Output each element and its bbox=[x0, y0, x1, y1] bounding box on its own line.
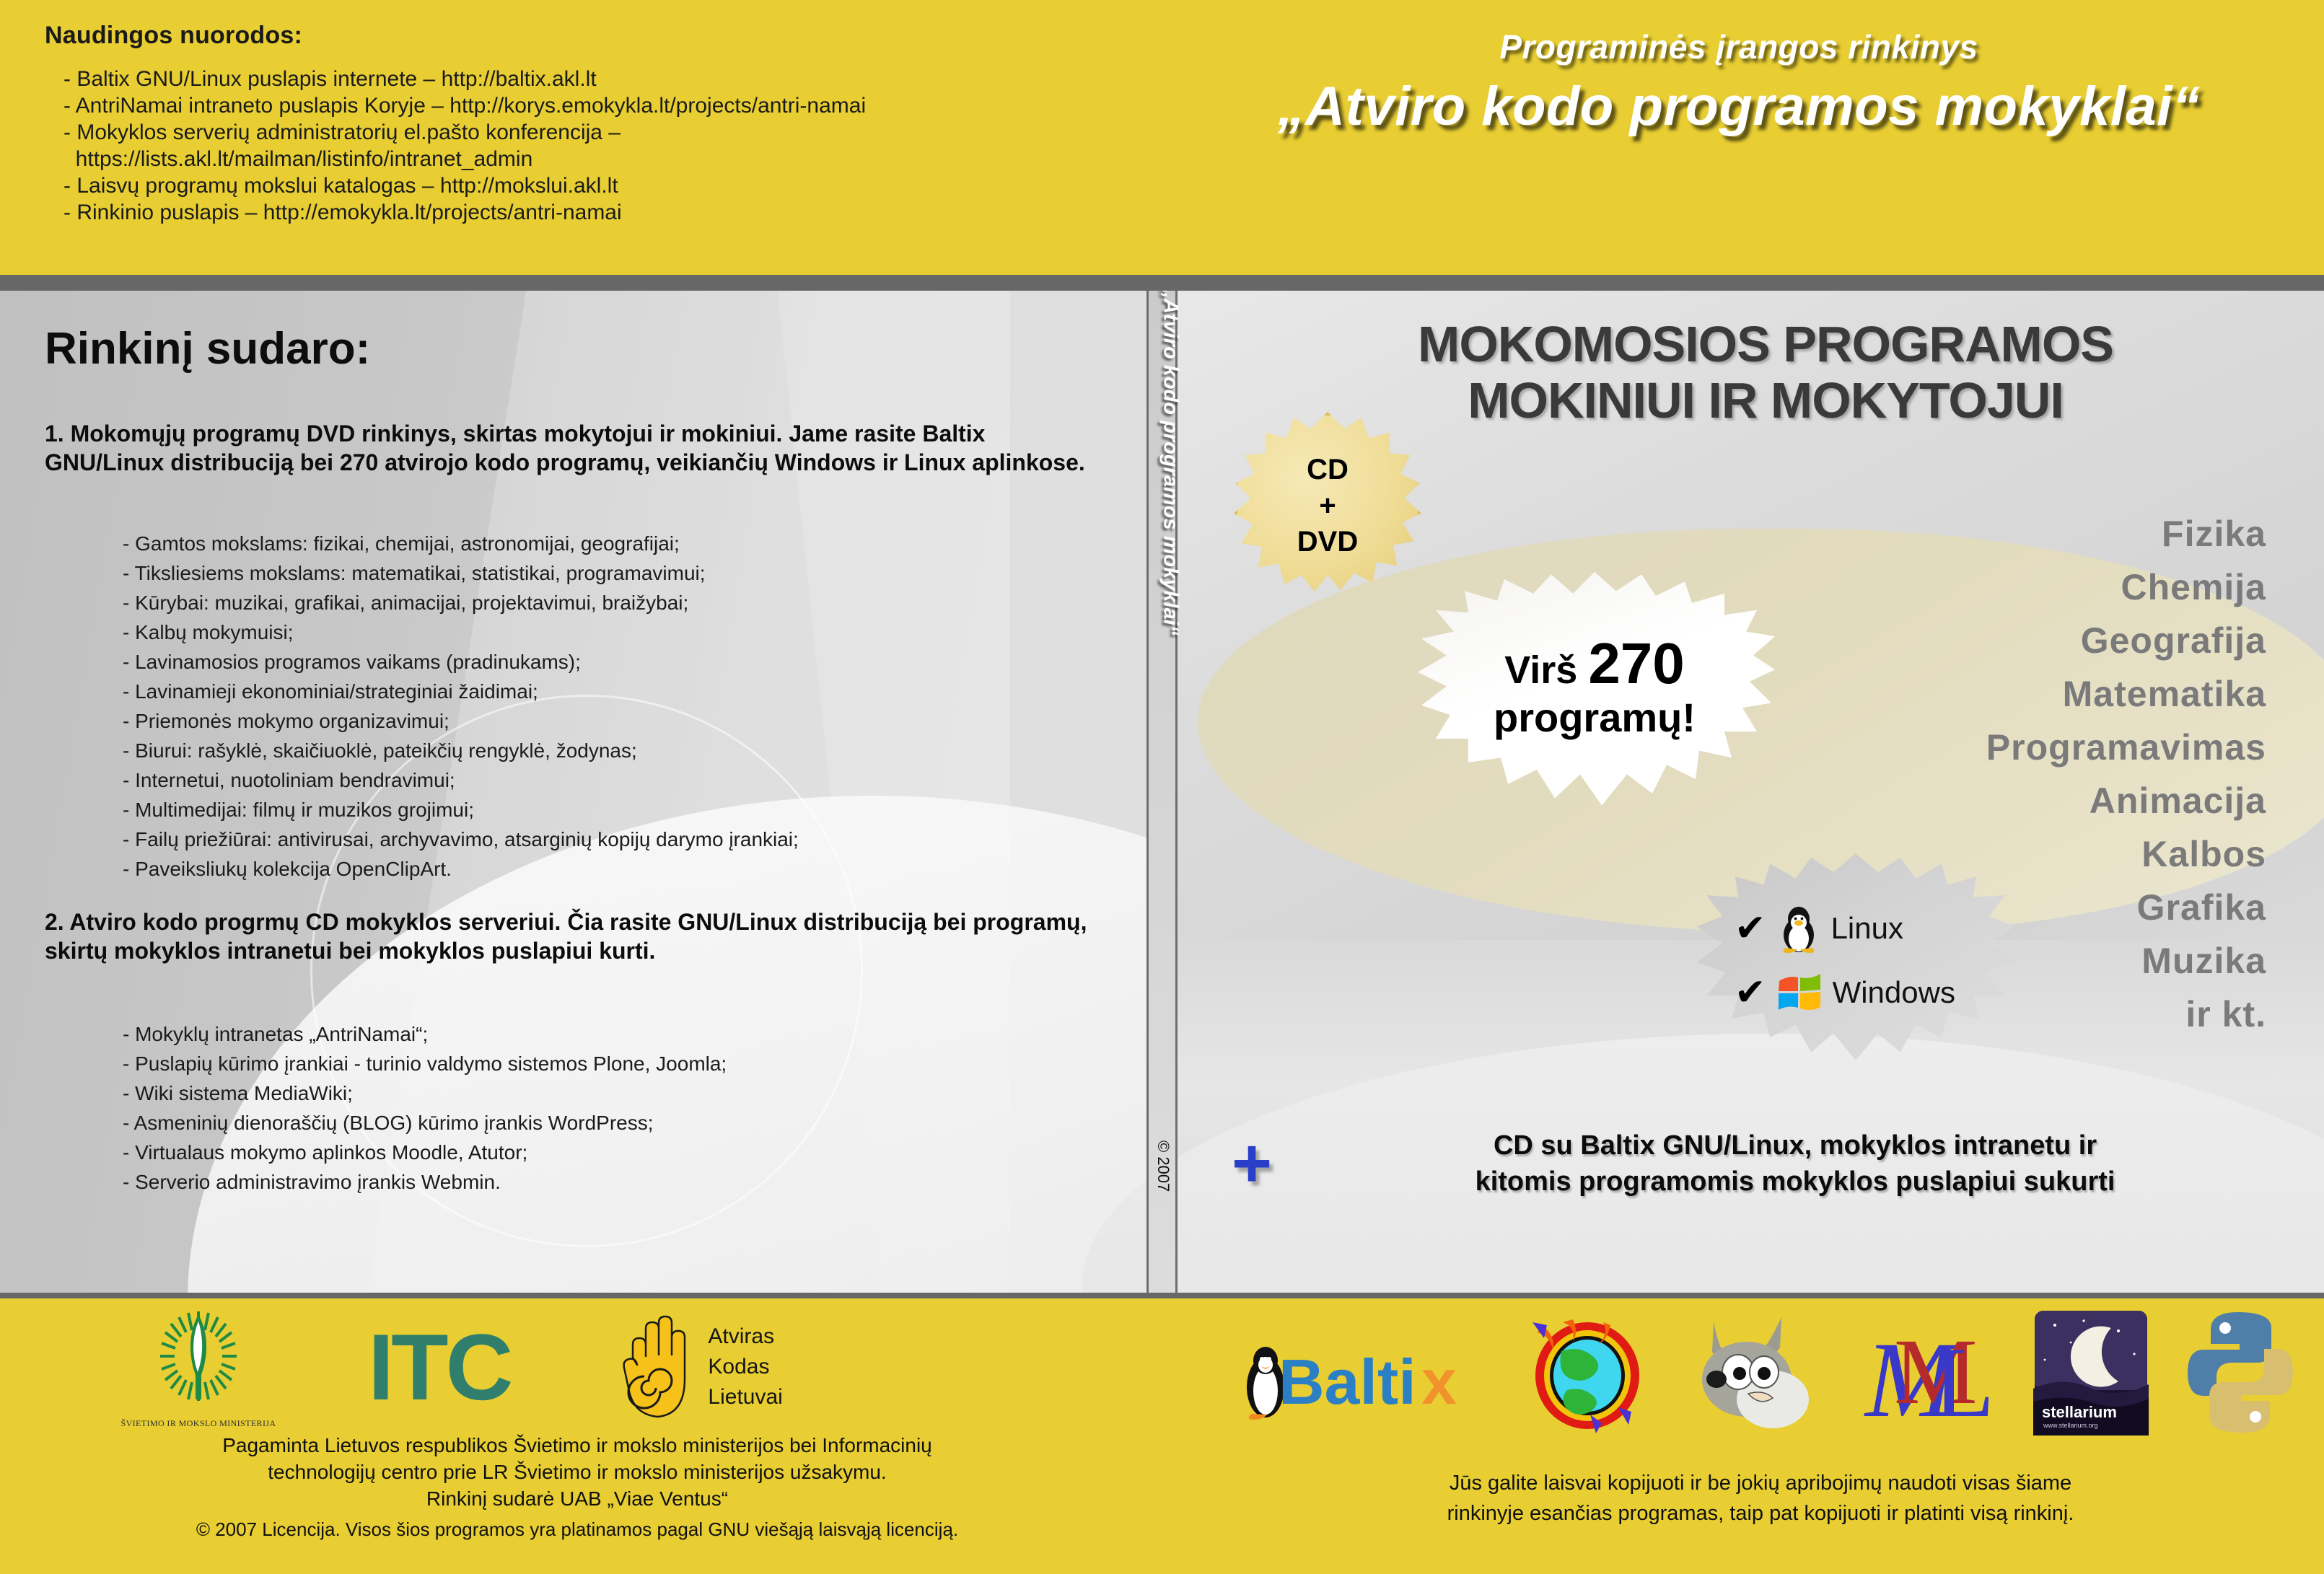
front-cover-panel: MOKOMOSIOS PROGRAMOS MOKINIUI IR MOKYTOJ… bbox=[1178, 291, 2324, 1293]
section-1-list: - Gamtos mokslams: fizikai, chemijai, as… bbox=[123, 529, 1126, 884]
front-cover-title-line-1: MOKOMOSIOS PROGRAMOS bbox=[1228, 316, 2303, 372]
subject-item: Geografija bbox=[1689, 614, 2266, 667]
list-item: - Tiksliesiems mokslams: matematikai, st… bbox=[123, 558, 1126, 588]
akl-line-1: Atviras bbox=[708, 1322, 782, 1352]
list-item: - Lavinamosios programos vaikams (pradin… bbox=[123, 647, 1126, 677]
useful-links-title: Naudingos nuorodos: bbox=[45, 22, 1141, 50]
stellarium-wordmark: stellarium bbox=[2042, 1403, 2117, 1421]
cover-spine: „Atviro kodo programos mokyklai“ © 2007 bbox=[1146, 291, 1178, 1293]
list-item: - Lavinamieji ekonominiai/strateginiai ž… bbox=[123, 677, 1126, 706]
stellarium-logo: stellarium www.stellarium.org bbox=[2033, 1309, 2149, 1439]
os-row-linux: ✔ Linux bbox=[1735, 903, 2014, 954]
production-credits: Pagaminta Lietuvos respublikos Švietimo … bbox=[29, 1432, 1126, 1512]
front-cover-title-line-2: MOKINIUI IR MOKYTOJUI bbox=[1228, 372, 2303, 428]
section-2-list: - Mokyklų intranetas „AntriNamai“; - Pus… bbox=[123, 1019, 1126, 1197]
link-item[interactable]: - Laisvų programų mokslui katalogas – ht… bbox=[45, 172, 1141, 199]
ministry-logo-caption: ŠVIETIMO IR MOKSLO MINISTERIJA bbox=[108, 1418, 289, 1429]
cover-subtitle: Programinės įrangos rinkinys bbox=[1169, 27, 2309, 66]
list-item: - Asmeninių dienoraščių (BLOG) kūrimo įr… bbox=[123, 1108, 1126, 1138]
cd-note-text: CD su Baltix GNU/Linux, mokyklos intrane… bbox=[1291, 1127, 2299, 1200]
starburst-line-1: Virš 270 bbox=[1504, 641, 1685, 693]
link-item[interactable]: - Rinkinio puslapis – http://emokykla.lt… bbox=[45, 199, 1141, 226]
akl-line-3: Lietuvai bbox=[708, 1382, 782, 1412]
itc-logo: ITC bbox=[368, 1320, 510, 1414]
list-item: - Kalbų mokymuisi; bbox=[123, 617, 1126, 647]
open-source-lithuania-logo: Atviras Kodas Lietuvai bbox=[618, 1313, 782, 1421]
list-item: - Serverio administravimo įrankis Webmin… bbox=[123, 1167, 1126, 1197]
maxima-logo: M M L bbox=[1862, 1308, 1996, 1441]
os-label-windows: Windows bbox=[1833, 975, 1955, 1010]
spine-copyright: © 2007 bbox=[1154, 1140, 1172, 1249]
license-notice: © 2007 Licencija. Visos šios programos y… bbox=[29, 1518, 1126, 1541]
link-item[interactable]: https://lists.akl.lt/mailman/listinfo/in… bbox=[45, 146, 1141, 172]
ministry-of-education-logo: ŠVIETIMO IR MOKSLO MINISTERIJA bbox=[108, 1304, 289, 1430]
software-logo-row: Balti x bbox=[1227, 1298, 2309, 1450]
celestia-logo bbox=[1524, 1309, 1650, 1439]
credit-line: technologijų centro prie LR Švietimo ir … bbox=[29, 1459, 1126, 1485]
front-cover-title: MOKOMOSIOS PROGRAMOS MOKINIUI IR MOKYTOJ… bbox=[1228, 316, 2303, 428]
credit-line: Pagaminta Lietuvos respublikos Švietimo … bbox=[29, 1432, 1126, 1459]
badge-line-dvd: DVD bbox=[1297, 524, 1358, 560]
useful-links-block: Naudingos nuorodos: - Baltix GNU/Linux p… bbox=[45, 22, 1141, 226]
list-item: - Kūrybai: muzikai, grafikai, animacijai… bbox=[123, 588, 1126, 617]
akl-line-2: Kodas bbox=[708, 1352, 782, 1382]
section-1-heading: 1. Mokomųjų programų DVD rinkinys, skirt… bbox=[45, 419, 1091, 477]
svg-text:L: L bbox=[1933, 1327, 1995, 1438]
list-item: - Wiki sistema MediaWiki; bbox=[123, 1078, 1126, 1108]
starburst-count: 270 bbox=[1588, 631, 1684, 695]
cd-note-line-1: CD su Baltix GNU/Linux, mokyklos intrane… bbox=[1291, 1127, 2299, 1164]
badge-line-plus: + bbox=[1319, 488, 1336, 524]
list-item: - Gamtos mokslams: fizikai, chemijai, as… bbox=[123, 529, 1126, 558]
svg-text:Balti: Balti bbox=[1279, 1346, 1416, 1417]
check-icon: ✔ bbox=[1735, 911, 1766, 946]
windows-logo-icon bbox=[1776, 972, 1823, 1013]
plus-icon: + bbox=[1232, 1131, 1272, 1196]
list-item: - Multimedijai: filmų ir muzikos grojimu… bbox=[123, 795, 1126, 825]
starburst-line-2: programų! bbox=[1494, 694, 1696, 742]
baltix-logo: Balti x bbox=[1241, 1319, 1486, 1430]
check-icon: ✔ bbox=[1735, 975, 1766, 1010]
subject-item: Fizika bbox=[1689, 507, 2266, 560]
list-item: - Puslapių kūrimo įrankiai - turinio val… bbox=[123, 1049, 1126, 1078]
cover-title-block: Programinės įrangos rinkinys „Atviro kod… bbox=[1169, 27, 2309, 138]
os-row-windows: ✔ Windows bbox=[1735, 972, 2014, 1013]
link-item[interactable]: - Mokyklos serverių administratorių el.p… bbox=[45, 119, 1141, 146]
bottom-divider-rule bbox=[0, 1293, 2324, 1298]
back-cover-panel: Rinkinį sudaro: 1. Mokomųjų programų DVD… bbox=[0, 291, 1146, 1293]
link-item[interactable]: - AntriNamai intraneto puslapis Koryje –… bbox=[45, 92, 1141, 119]
gimp-logo bbox=[1688, 1313, 1825, 1435]
list-item: - Virtualaus mokymo aplinkos Moodle, Atu… bbox=[123, 1138, 1126, 1167]
subject-item: Matematika bbox=[1689, 667, 2266, 721]
freedom-notice: Jūs galite laisvai kopijuoti ir be jokių… bbox=[1212, 1468, 2309, 1529]
cd-note-line-2: kitomis programomis mokyklos puslapiui s… bbox=[1291, 1164, 2299, 1200]
list-item: - Mokyklų intranetas „AntriNamai“; bbox=[123, 1019, 1126, 1049]
starburst-prefix: Virš bbox=[1504, 648, 1577, 692]
svg-text:x: x bbox=[1421, 1346, 1457, 1417]
list-item: - Biurui: rašyklė, skaičiuoklė, pateikči… bbox=[123, 736, 1126, 765]
cd-dvd-badge: CD + DVD bbox=[1234, 412, 1421, 599]
list-item: - Priemonės mokymo organizavimui; bbox=[123, 706, 1126, 736]
credit-line: Rinkinį sudarė UAB „Viae Ventus“ bbox=[29, 1485, 1126, 1512]
list-item: - Failų priežiūrai: antivirusai, archyva… bbox=[123, 825, 1126, 854]
hand-icon bbox=[618, 1313, 698, 1421]
list-item: - Paveiksliukų kolekcija OpenClipArt. bbox=[123, 854, 1126, 884]
os-label-linux: Linux bbox=[1831, 911, 1903, 946]
subject-item: Chemija bbox=[1689, 560, 2266, 614]
useful-links-list: - Baltix GNU/Linux puslapis internete – … bbox=[45, 66, 1141, 226]
badge-line-cd: CD bbox=[1307, 452, 1349, 488]
sponsor-logo-row: ŠVIETIMO IR MOKSLO MINISTERIJA ITC Atvir… bbox=[108, 1302, 1118, 1432]
cd-extra-note: + CD su Baltix GNU/Linux, mokyklos intra… bbox=[1232, 1127, 2299, 1200]
cover-artwork-area: Rinkinį sudaro: 1. Mokomųjų programų DVD… bbox=[0, 291, 2324, 1293]
open-source-lithuania-text: Atviras Kodas Lietuvai bbox=[708, 1322, 782, 1412]
link-item[interactable]: - Baltix GNU/Linux puslapis internete – … bbox=[45, 66, 1141, 92]
python-logo bbox=[2186, 1309, 2294, 1439]
cover-main-title: „Atviro kodo programos mokyklai“ bbox=[1169, 75, 2309, 138]
tux-penguin-icon bbox=[1776, 903, 1821, 954]
subject-item: Animacija bbox=[1689, 774, 2266, 827]
freedom-notice-line: Jūs galite laisvai kopijuoti ir be jokių… bbox=[1212, 1468, 2309, 1498]
section-2-heading: 2. Atviro kodo progrmų CD mokyklos serve… bbox=[45, 907, 1098, 965]
stellarium-url: www.stellarium.org bbox=[2043, 1422, 2098, 1429]
freedom-notice-line: rinkinyje esančias programas, taip pat k… bbox=[1212, 1498, 2309, 1529]
list-item: - Internetui, nuotoliniam bendravimui; bbox=[123, 765, 1126, 795]
subject-item: Programavimas bbox=[1689, 721, 2266, 774]
back-cover-heading: Rinkinį sudaro: bbox=[45, 323, 370, 374]
top-divider-rule bbox=[0, 275, 2324, 291]
